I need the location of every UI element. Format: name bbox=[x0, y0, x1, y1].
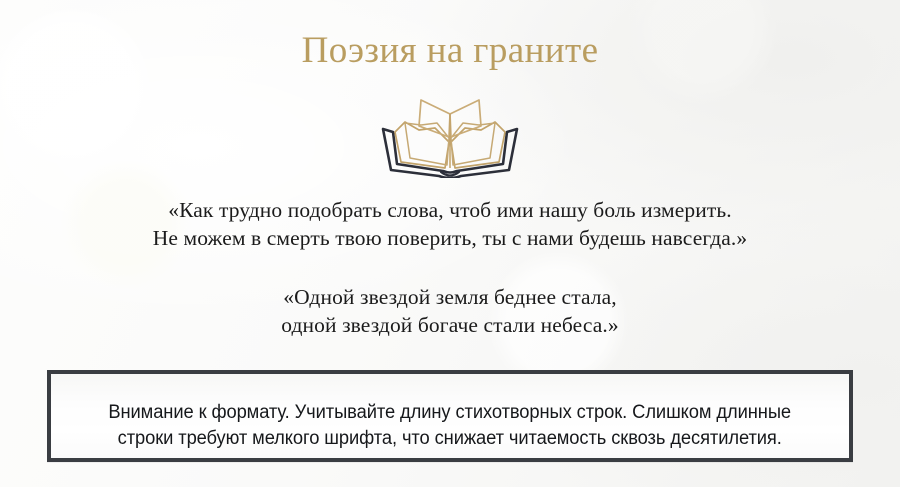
verse-line: «Одной звездой земля беднее стала, bbox=[0, 283, 900, 311]
verse-line: одной звездой богаче стали небеса.» bbox=[0, 311, 900, 339]
note-line: строки требуют мелкого шрифта, что снижа… bbox=[109, 426, 792, 452]
format-note-text: Внимание к формату. Учитывайте длину сти… bbox=[109, 400, 792, 452]
stanza-spacer bbox=[0, 252, 900, 283]
verses-block: «Как трудно подобрать слова, чтоб ими на… bbox=[0, 196, 900, 339]
open-book-icon bbox=[375, 92, 525, 178]
stanza-2: «Одной звездой земля беднее стала, одной… bbox=[0, 283, 900, 339]
verse-line: Не можем в смерть твою поверить, ты с на… bbox=[0, 224, 900, 252]
stanza-1: «Как трудно подобрать слова, чтоб ими на… bbox=[0, 196, 900, 252]
page-title: Поэзия на граните bbox=[0, 30, 900, 73]
format-note-box: Внимание к формату. Учитывайте длину сти… bbox=[47, 370, 853, 462]
verse-line: «Как трудно подобрать слова, чтоб ими на… bbox=[0, 196, 900, 224]
note-line: Внимание к формату. Учитывайте длину сти… bbox=[109, 400, 792, 426]
slide-canvas: Поэзия на граните «Как трудно подобрать … bbox=[0, 0, 900, 487]
